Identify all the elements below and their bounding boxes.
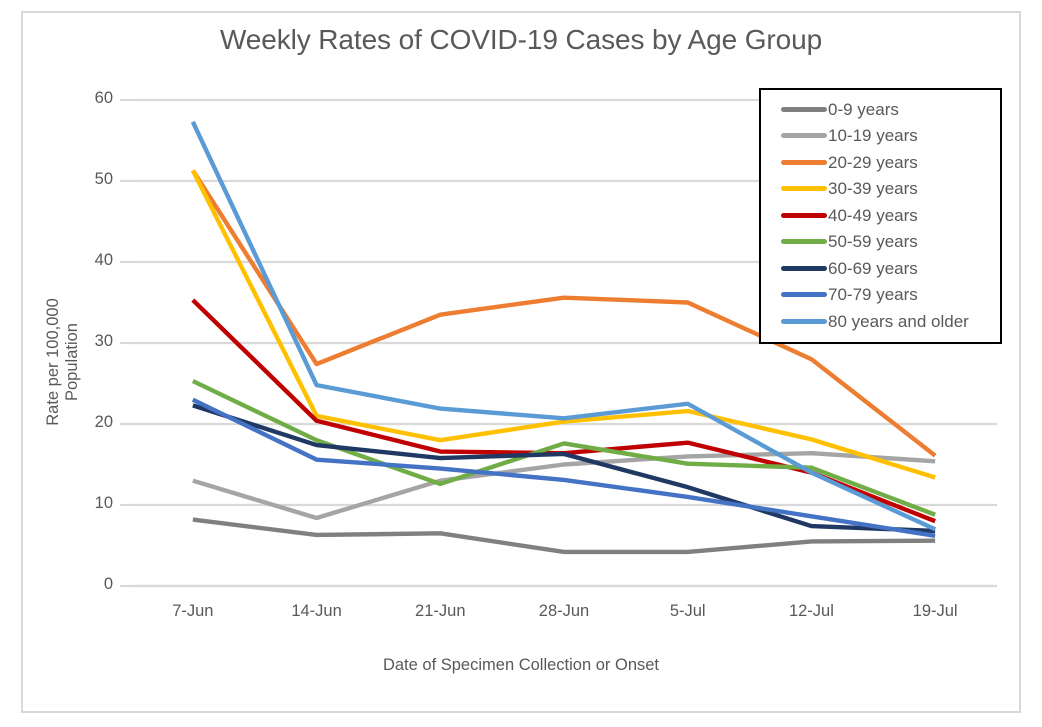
y-axis-title: Rate per 100,000 Population: [44, 262, 82, 462]
chart-legend: 0-9 years10-19 years20-29 years30-39 yea…: [759, 88, 1002, 344]
legend-item-label: 30-39 years: [828, 180, 918, 197]
series-line-10-19-years: [193, 453, 935, 518]
y-tick-label: 20: [53, 413, 113, 432]
y-tick-label: 50: [53, 170, 113, 189]
x-tick-label: 7-Jun: [133, 602, 253, 621]
legend-item-label: 10-19 years: [828, 127, 918, 144]
y-tick-label: 10: [53, 494, 113, 513]
legend-item-label: 70-79 years: [828, 286, 918, 303]
legend-color-swatch-icon: [781, 186, 827, 191]
legend-color-swatch-icon: [781, 133, 827, 138]
legend-item-label: 60-69 years: [828, 260, 918, 277]
x-tick-label: 21-Jun: [380, 602, 500, 621]
y-tick-label: 60: [53, 89, 113, 108]
legend-item[interactable]: 80 years and older: [769, 308, 992, 335]
x-tick-label: 28-Jun: [504, 602, 624, 621]
legend-color-swatch-icon: [781, 319, 827, 324]
x-tick-label: 5-Jul: [628, 602, 748, 621]
legend-color-swatch-icon: [781, 213, 827, 218]
legend-item[interactable]: 60-69 years: [769, 255, 992, 282]
legend-color-swatch-icon: [781, 266, 827, 271]
y-tick-label: 0: [53, 575, 113, 594]
legend-color-swatch-icon: [781, 107, 827, 112]
series-line-50-59-years: [193, 381, 935, 515]
legend-item[interactable]: 50-59 years: [769, 229, 992, 256]
legend-item-label: 20-29 years: [828, 154, 918, 171]
x-tick-label: 12-Jul: [751, 602, 871, 621]
legend-item-label: 40-49 years: [828, 207, 918, 224]
y-tick-label: 30: [53, 332, 113, 351]
legend-item[interactable]: 70-79 years: [769, 282, 992, 309]
legend-color-swatch-icon: [781, 292, 827, 297]
legend-color-swatch-icon: [781, 239, 827, 244]
x-axis-title: Date of Specimen Collection or Onset: [0, 656, 1042, 675]
chart-container: Weekly Rates of COVID-19 Cases by Age Gr…: [0, 0, 1042, 727]
legend-item[interactable]: 10-19 years: [769, 123, 992, 150]
legend-item-label: 50-59 years: [828, 233, 918, 250]
legend-color-swatch-icon: [781, 160, 827, 165]
legend-item[interactable]: 0-9 years: [769, 96, 992, 123]
legend-item[interactable]: 40-49 years: [769, 202, 992, 229]
legend-item-label: 0-9 years: [828, 101, 899, 118]
legend-item[interactable]: 20-29 years: [769, 149, 992, 176]
x-tick-label: 14-Jun: [257, 602, 377, 621]
legend-item-label: 80 years and older: [828, 313, 969, 330]
y-tick-label: 40: [53, 251, 113, 270]
legend-item[interactable]: 30-39 years: [769, 176, 992, 203]
x-tick-label: 19-Jul: [875, 602, 995, 621]
